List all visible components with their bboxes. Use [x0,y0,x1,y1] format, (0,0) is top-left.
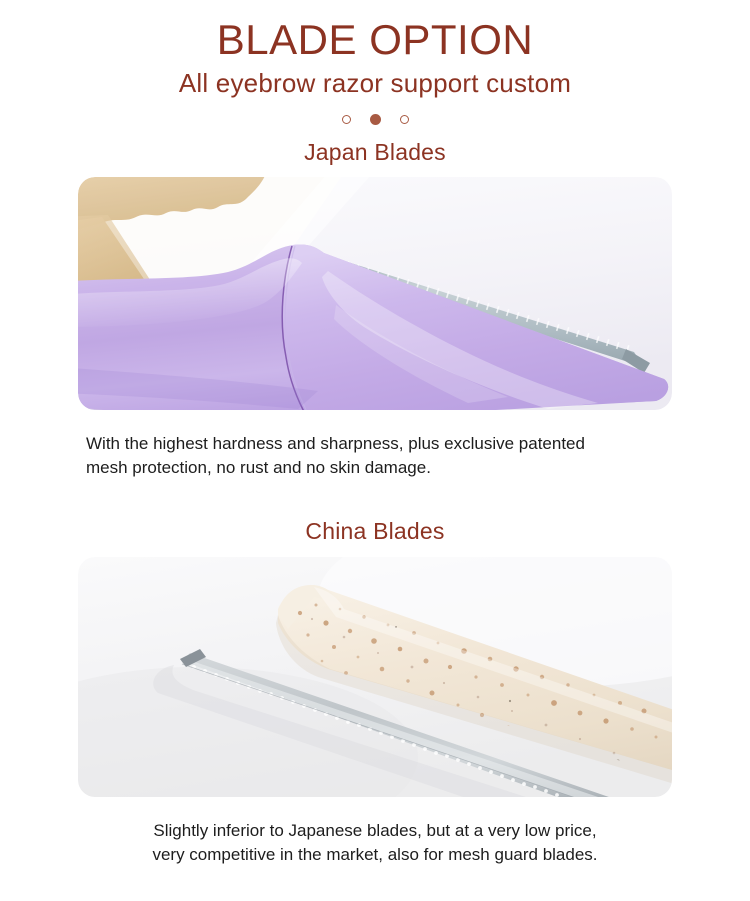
page-header: BLADE OPTION All eyebrow razor support c… [0,0,750,99]
purple-razor-illustration [78,177,672,410]
description-line: very competitive in the market, also for… [75,843,675,867]
carousel-dot-2-active[interactable] [370,114,381,125]
section-heading-japan-blades: Japan Blades [0,139,750,166]
speckled-razor-illustration [78,557,672,797]
section-heading-china-blades: China Blades [0,518,750,545]
description-line: Slightly inferior to Japanese blades, bu… [75,819,675,843]
carousel-dot-1[interactable] [342,115,351,124]
description-china-blades: Slightly inferior to Japanese blades, bu… [75,819,675,867]
carousel-dots [0,112,750,126]
blade-option-page: BLADE OPTION All eyebrow razor support c… [0,0,750,901]
speckled-eyebrow-razor-photo [78,557,672,797]
page-title: BLADE OPTION [0,18,750,62]
description-line: mesh protection, no rust and no skin dam… [86,456,675,480]
description-line: With the highest hardness and sharpness,… [86,432,675,456]
purple-eyebrow-razor-photo [78,177,672,410]
carousel-dot-3[interactable] [400,115,409,124]
description-japan-blades: With the highest hardness and sharpness,… [75,432,675,480]
page-subtitle: All eyebrow razor support custom [0,68,750,99]
